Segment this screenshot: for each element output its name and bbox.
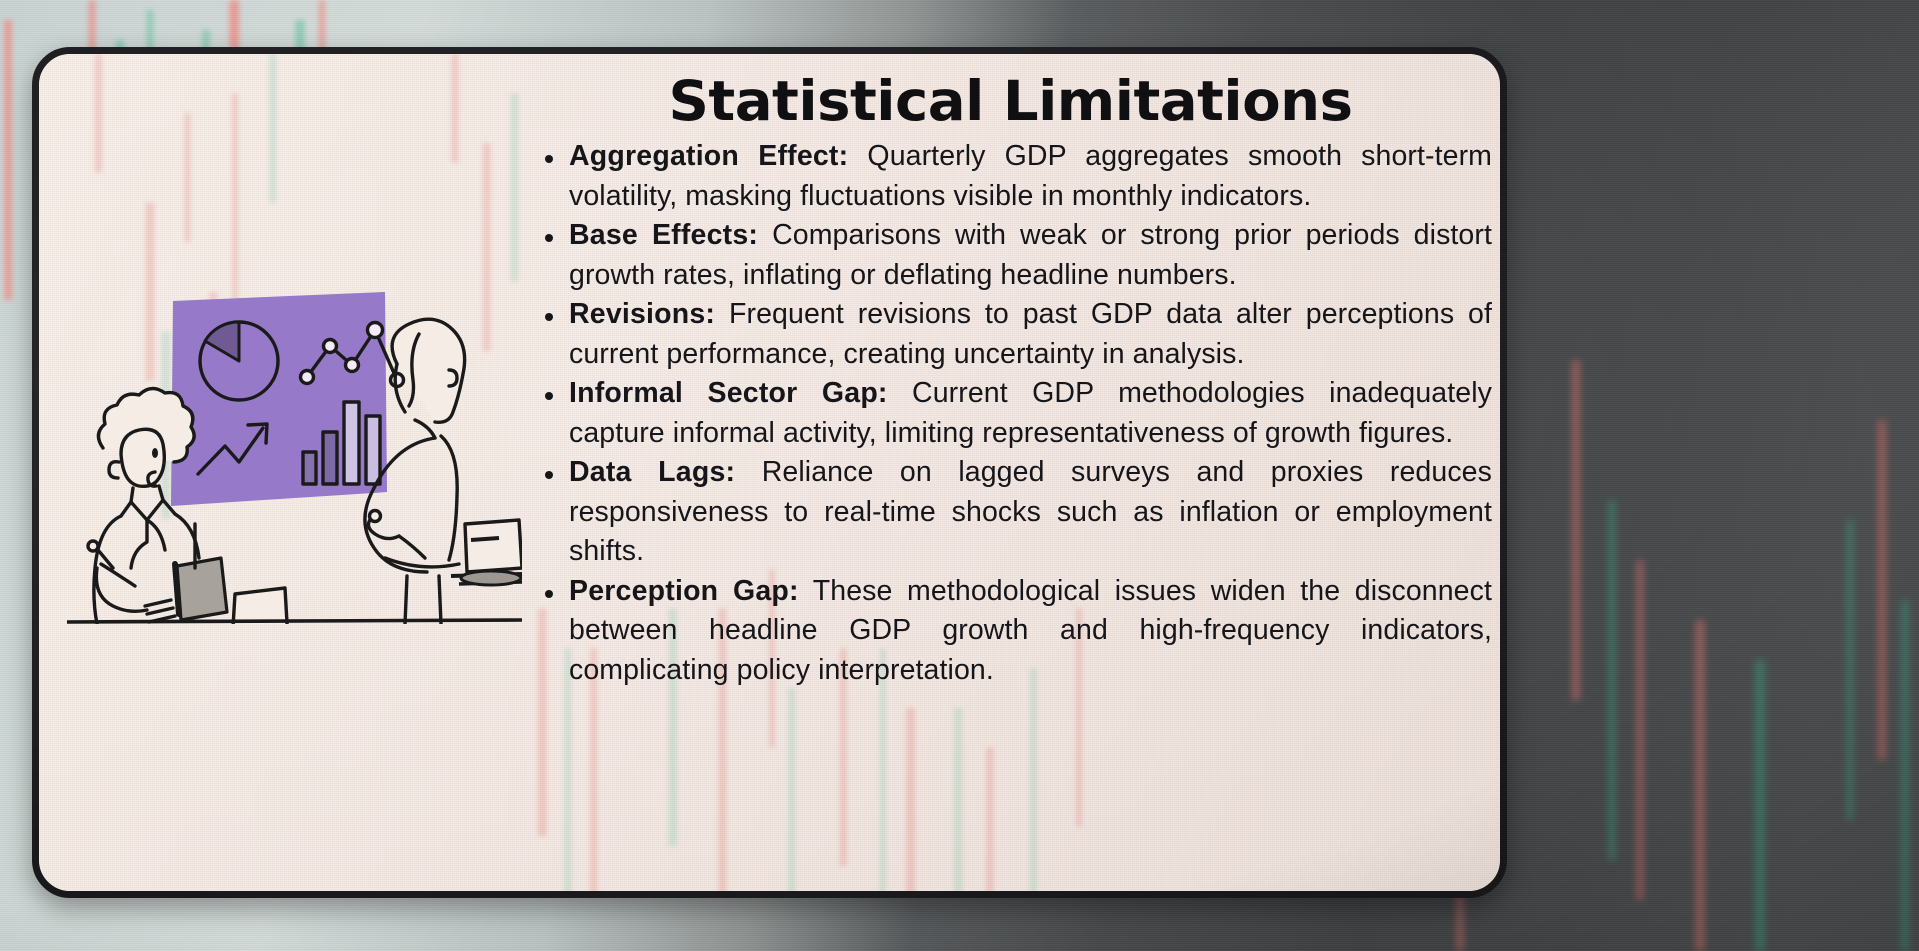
list-item: Data Lags: Reliance on lagged surveys an… <box>529 453 1492 572</box>
list-item: Revisions: Frequent revisions to past GD… <box>529 295 1492 374</box>
list-item-term: Base Effects: <box>569 219 758 251</box>
slide-card: Statistical Limitations Aggregation Effe… <box>32 47 1507 898</box>
list-item-term: Data Lags: <box>569 456 735 488</box>
list-item: Aggregation Effect: Quarterly GDP aggreg… <box>529 137 1492 216</box>
desk-line <box>67 620 522 622</box>
illustration <box>67 224 522 624</box>
list-item-term: Informal Sector Gap: <box>569 377 888 409</box>
presentation-stand <box>451 520 522 585</box>
monitor-screen: Statistical Limitations Aggregation Effe… <box>0 0 1919 951</box>
limitations-list: Aggregation Effect: Quarterly GDP aggreg… <box>529 137 1492 690</box>
list-item-term: Aggregation Effect: <box>569 140 848 172</box>
list-item: Informal Sector Gap: Current GDP methodo… <box>529 374 1492 453</box>
list-item-term: Perception Gap: <box>569 575 799 607</box>
laptop <box>227 588 299 624</box>
page-title: Statistical Limitations <box>519 59 1501 137</box>
list-item: Perception Gap: These methodological iss… <box>529 572 1492 691</box>
slide-content: Statistical Limitations Aggregation Effe… <box>529 59 1504 898</box>
list-item: Base Effects: Comparisons with weak or s… <box>529 216 1492 295</box>
list-item-term: Revisions: <box>569 298 715 330</box>
